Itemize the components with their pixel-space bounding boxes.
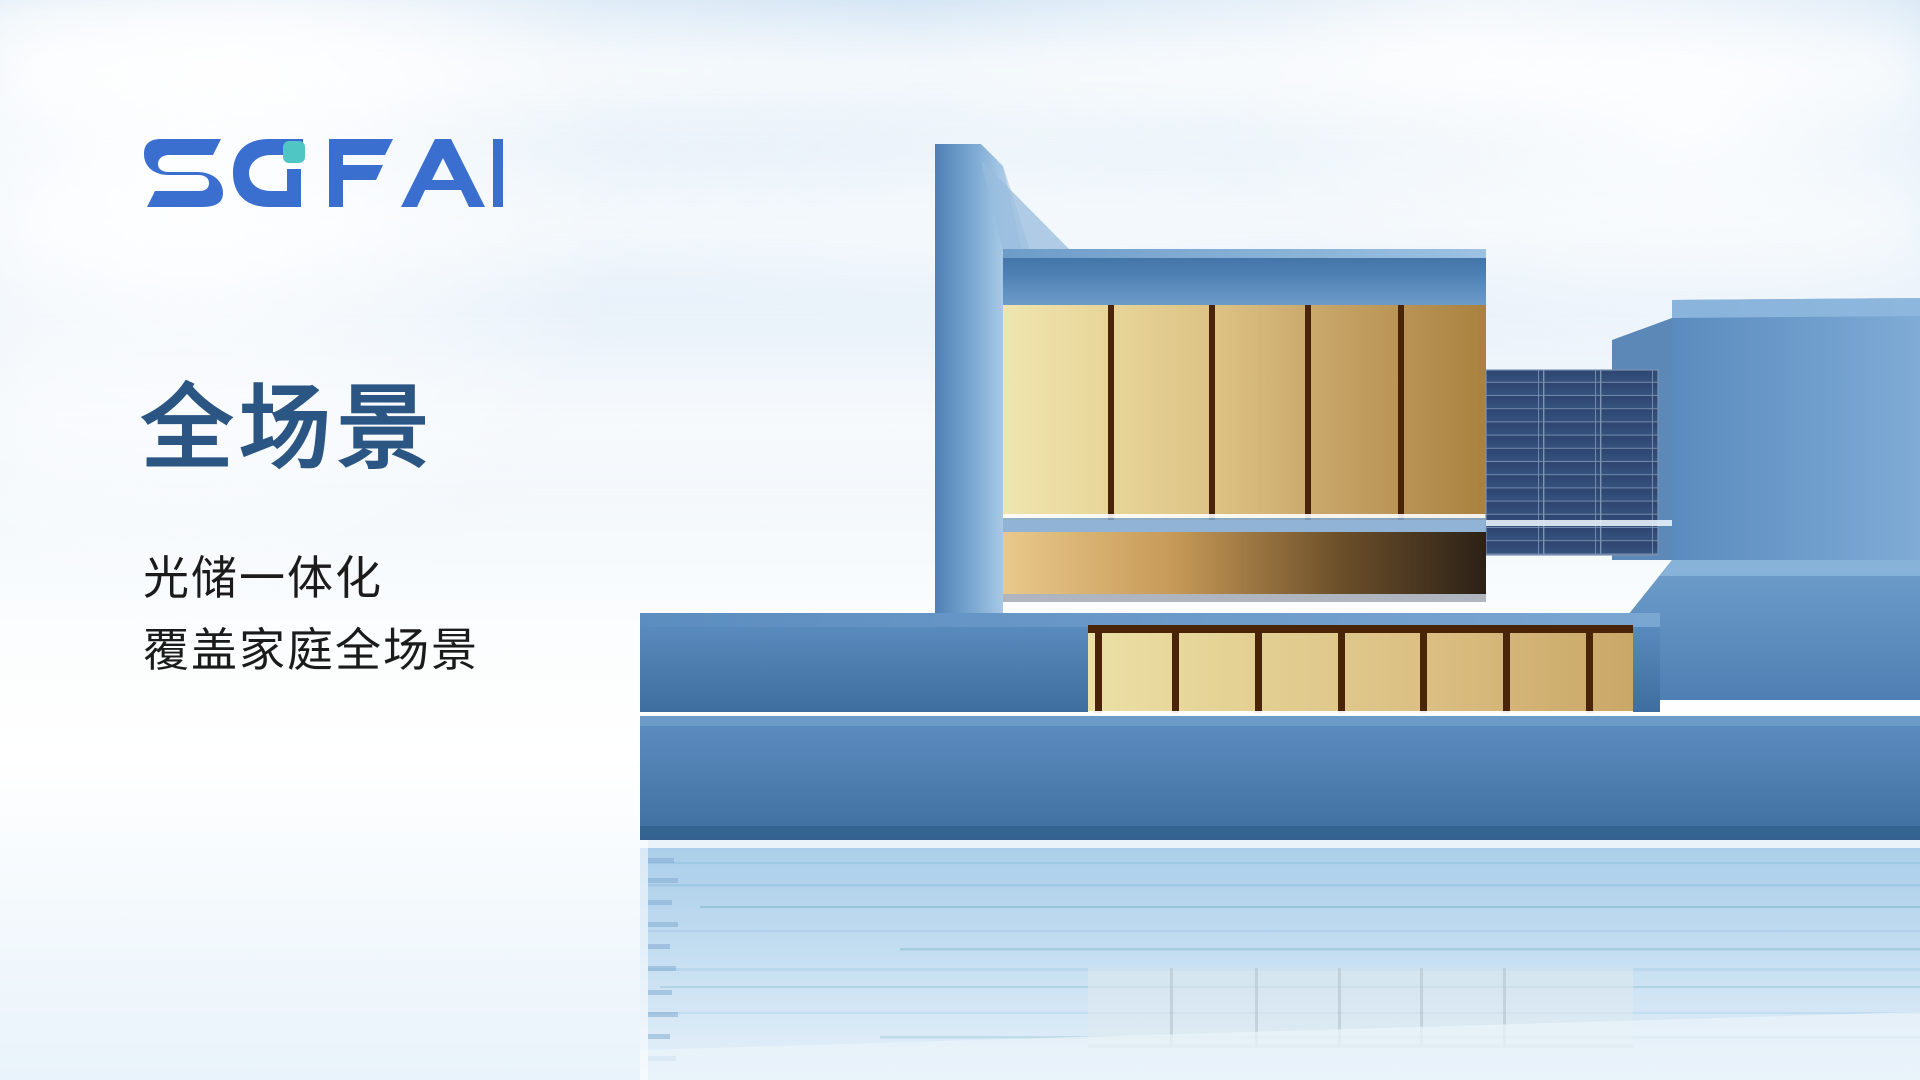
upper-floor-fascia xyxy=(1003,249,1486,305)
upper-slab-underside xyxy=(1003,518,1486,602)
logo-accent-square xyxy=(283,141,305,163)
podium-base xyxy=(640,716,1920,840)
subtitle-line-1: 光储一体化 xyxy=(143,555,383,601)
lower-wood-glazing xyxy=(1088,625,1633,716)
sofar-logo[interactable] xyxy=(143,133,503,207)
water-reflection xyxy=(640,840,1920,1080)
sofar-wordmark-paths xyxy=(144,139,503,207)
water-left-edge xyxy=(640,840,648,1080)
banner-root: 全场景 光储一体化 覆盖家庭全场景 xyxy=(0,0,1920,1080)
upper-wood-wall xyxy=(1003,305,1486,520)
subtitle-line-2: 覆盖家庭全场景 xyxy=(143,627,479,673)
solar-panel-array xyxy=(1486,370,1658,555)
page-headline: 全场景 xyxy=(141,383,435,475)
upper-rail xyxy=(1486,520,1672,526)
